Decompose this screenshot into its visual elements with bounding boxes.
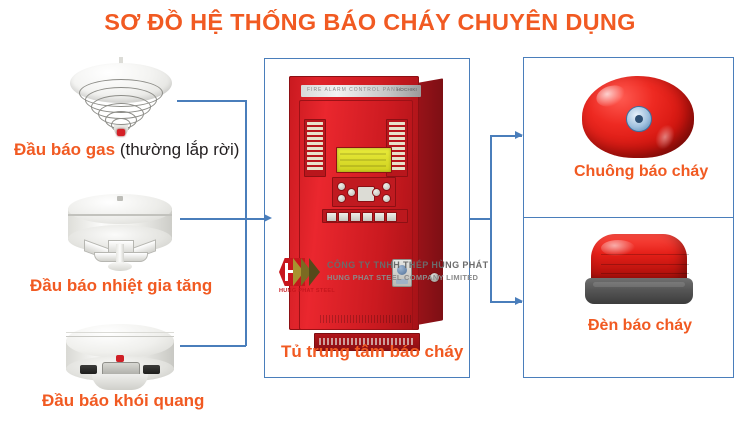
smoke-detector-icon: [58, 322, 182, 400]
panel-function-buttons[interactable]: [322, 209, 408, 223]
control-panel-label: Tủ trung tâm báo cháy: [281, 342, 463, 362]
output-group-divider: [523, 217, 734, 218]
smoke-detector-groove-lower: [66, 336, 174, 337]
heat-detector-groove: [68, 214, 172, 216]
watermark-company-en: HUNG PHAT STEEL COMPANY LIMITED: [327, 273, 478, 282]
alarm-bell-label: Chuông báo cháy: [574, 163, 708, 181]
heat-detector-nub: [117, 196, 123, 201]
panel-keypad[interactable]: [332, 177, 396, 207]
connector-gas-to-bus: [177, 100, 246, 102]
heat-detector-cap: [108, 262, 132, 271]
company-watermark-logo: HUNG PHAT STEEL CÔNG TY TNHH THÉP HÙNG P…: [279, 252, 479, 298]
gas-detector-icon: [62, 57, 180, 143]
smoke-detector-top: [66, 324, 174, 358]
smoke-detector-groove-upper: [66, 332, 174, 333]
alarm-bell-center-label: [626, 106, 652, 132]
gas-detector-led: [117, 129, 125, 136]
logo-chevron-3: [309, 258, 320, 286]
smoke-detector-skirt: [92, 374, 148, 390]
smoke-detector-label-main: Đầu báo khói quang: [42, 391, 204, 410]
alarm-bell-icon: [582, 76, 694, 160]
panel-brand-mark-text: HOCHIKI: [397, 87, 417, 92]
panel-brand-strip: FIRE ALARM CONTROL PANEL HOCHIKI: [301, 85, 421, 97]
smoke-detector-label: Đầu báo khói quang: [42, 391, 204, 411]
gas-detector-label: Đầu báo gas (thường lắp rời): [14, 140, 239, 160]
alarm-bell-label-main: Chuông báo cháy: [574, 163, 708, 180]
smoke-detector-inlet-right: [143, 365, 160, 374]
connector-output-riser: [490, 135, 492, 302]
arrow-to-strobe-light: [515, 297, 523, 305]
control-panel-label-main: Tủ trung tâm báo cháy: [281, 342, 463, 361]
smoke-detector-inlet-left: [80, 365, 97, 374]
page-title: SƠ ĐỒ HỆ THỐNG BÁO CHÁY CHUYÊN DỤNG: [0, 9, 740, 36]
gas-detector-label-main: Đầu báo gas: [14, 140, 115, 159]
panel-brand-strip-text: FIRE ALARM CONTROL PANEL: [307, 87, 404, 93]
connector-input-bus: [245, 100, 247, 346]
strobe-light-icon: [585, 234, 693, 308]
connector-panel-to-split: [470, 218, 492, 220]
logo-mark-text: HUNG PHAT STEEL: [279, 288, 335, 294]
heat-detector-label-main: Đầu báo nhiệt gia tăng: [30, 276, 212, 295]
panel-vent-slots: [320, 315, 412, 323]
strobe-light-base: [585, 278, 693, 304]
strobe-light-label-main: Đèn báo cháy: [588, 317, 692, 334]
hung-phat-logo-mark: [279, 256, 319, 290]
heat-detector-label: Đầu báo nhiệt gia tăng: [30, 276, 212, 296]
panel-led-column-left: [304, 119, 326, 177]
gas-detector-label-note: (thường lắp rời): [115, 140, 239, 159]
diagram-canvas: SƠ ĐỒ HỆ THỐNG BÁO CHÁY CHUYÊN DỤNG Đầu …: [0, 0, 740, 422]
watermark-company-vi: CÔNG TY TNHH THÉP HÙNG PHÁT: [327, 260, 488, 270]
connector-heat-to-bus: [180, 218, 246, 220]
strobe-light-label: Đèn báo cháy: [588, 317, 692, 335]
arrow-into-control-panel: [264, 214, 272, 222]
heat-detector-icon: [58, 192, 182, 276]
arrow-to-alarm-bell: [515, 131, 523, 139]
smoke-detector-led: [116, 355, 124, 362]
connector-smoke-to-bus: [180, 345, 246, 347]
panel-lcd-display: [336, 147, 392, 173]
